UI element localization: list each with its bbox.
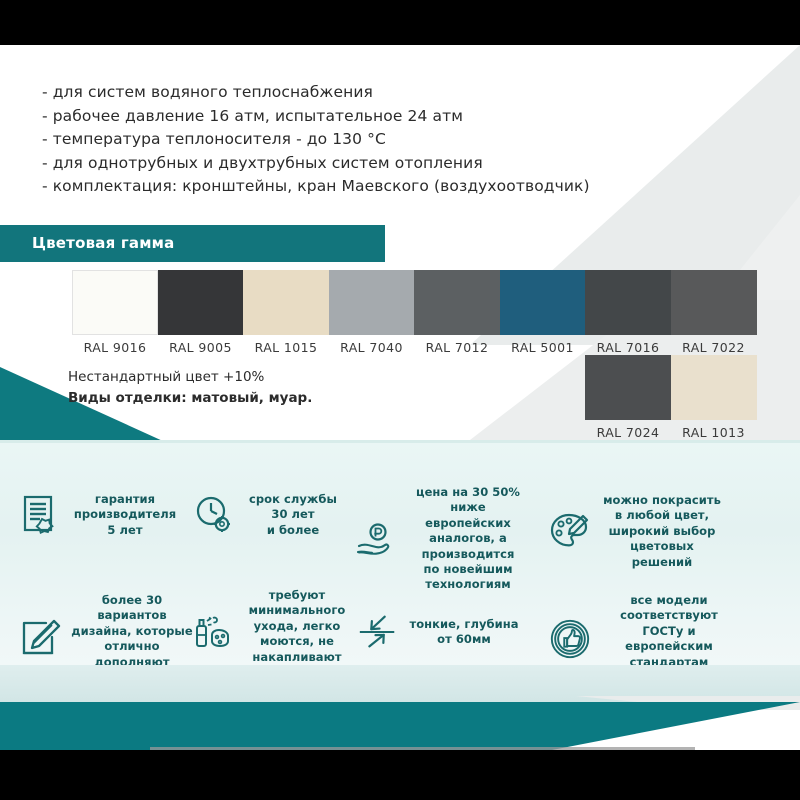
swatch-label: RAL 7012 — [414, 340, 500, 355]
feature-text-line: цветовых решений — [601, 539, 723, 570]
feature-text-line: накапливают — [245, 650, 349, 665]
feature-text-line: ниже европейских — [409, 500, 527, 531]
slide-canvas: - для систем водяного теплоснабжения - р… — [0, 45, 800, 750]
certificate-icon — [18, 493, 62, 537]
feature-item: цена на 30 50%ниже европейскиханалогов, … — [356, 485, 527, 593]
palette-notes: Нестандартный цвет +10% Виды отделки: ма… — [68, 367, 312, 409]
feature-text: цена на 30 50%ниже европейскиханалогов, … — [409, 485, 527, 593]
palette-header-label: Цветовая гамма — [32, 234, 174, 252]
feature-text-line: вариантов — [71, 608, 193, 623]
color-swatch[interactable]: RAL 7040 — [329, 270, 415, 355]
swatch-chip — [671, 355, 757, 420]
feature-text-line: аналогов, а — [409, 531, 527, 546]
note-custom-color: Нестандартный цвет +10% — [68, 367, 312, 388]
spray-sponge-icon — [192, 612, 236, 656]
color-swatch[interactable]: RAL 7024 — [585, 355, 671, 440]
feature-text: тонкие, глубинаот 60мм — [409, 617, 519, 648]
palette-brush-icon — [548, 510, 592, 554]
color-swatch[interactable]: RAL 7012 — [414, 270, 500, 355]
swatch-label: RAL 5001 — [500, 340, 586, 355]
spec-item: - рабочее давление 16 атм, испытательное… — [42, 105, 622, 129]
swatch-label: RAL 7022 — [671, 340, 757, 355]
feature-text-line: и более — [245, 523, 341, 538]
swatch-chip — [243, 270, 329, 335]
feature-text-line: можно покрасить — [601, 493, 723, 508]
swatch-label: RAL 1013 — [671, 425, 757, 440]
clock-gear-icon — [192, 493, 236, 537]
feature-text-line: в любой цвет, — [601, 508, 723, 523]
feature-text: гарантияпроизводителя5 лет — [71, 492, 179, 538]
color-swatch[interactable]: RAL 5001 — [500, 270, 586, 355]
feature-text-line: ухода, легко — [245, 619, 349, 634]
note-finish-types: Виды отделки: матовый, муар. — [68, 388, 312, 409]
feature-text-line: моются, не — [245, 634, 349, 649]
color-swatch[interactable]: RAL 7016 — [585, 270, 671, 355]
swatch-label: RAL 9016 — [72, 340, 158, 355]
feature-text: срок службы30 лети более — [245, 492, 341, 538]
spec-item: - комплектация: кронштейны, кран Маевско… — [42, 175, 622, 199]
feature-text-line: 30 лет — [245, 507, 341, 522]
feature-text-line: производится — [409, 547, 527, 562]
pencil-note-icon — [18, 617, 62, 661]
feature-text-line: цена на 30 50% — [409, 485, 527, 500]
spec-list: - для систем водяного теплоснабжения - р… — [42, 81, 622, 199]
swatch-chip — [585, 355, 671, 420]
feature-text-line: соответствуют — [601, 608, 737, 623]
depth-arrows-icon — [356, 610, 400, 654]
feature-text-line: требуют — [245, 588, 349, 603]
color-swatch[interactable]: RAL 9005 — [158, 270, 244, 355]
spec-item: - температура теплоносителя - до 130 °C — [42, 128, 622, 152]
feature-text-line: производителя — [71, 507, 179, 522]
feature-text-line: по новейшим — [409, 562, 527, 577]
feature-text-line: срок службы — [245, 492, 341, 507]
palette-header-bar: Цветовая гамма — [0, 225, 385, 262]
swatch-label: RAL 1015 — [243, 340, 329, 355]
swatch-chip — [500, 270, 586, 335]
feature-item: срок службы30 лети более — [192, 492, 341, 538]
color-swatch[interactable]: RAL 1015 — [243, 270, 329, 355]
feature-text-line: технологиям — [409, 577, 527, 592]
feature-text-line: гарантия — [71, 492, 179, 507]
color-swatch[interactable]: RAL 7022 — [671, 270, 757, 355]
hand-ruble-icon — [356, 517, 400, 561]
feature-item: гарантияпроизводителя5 лет — [18, 492, 179, 538]
feature-item: можно покраситьв любой цвет,широкий выбо… — [548, 493, 723, 570]
feature-text-line: тонкие, глубина — [409, 617, 519, 632]
feature-text-line: минимального — [245, 603, 349, 618]
color-swatch[interactable]: RAL 1013 — [671, 355, 757, 440]
slide-page: - для систем водяного теплоснабжения - р… — [0, 0, 800, 800]
feature-text-line: широкий выбор — [601, 524, 723, 539]
feature-text-line: от 60мм — [409, 632, 519, 647]
swatch-label: RAL 7024 — [585, 425, 671, 440]
feature-text: можно покраситьв любой цвет,широкий выбо… — [601, 493, 723, 570]
spec-item: - для систем водяного теплоснабжения — [42, 81, 622, 105]
feature-text-line: дизайна, которые — [71, 624, 193, 639]
spec-item: - для однотрубных и двухтрубных систем о… — [42, 152, 622, 176]
swatch-label: RAL 9005 — [158, 340, 244, 355]
decorative-band-teal — [0, 702, 800, 750]
swatch-chip — [329, 270, 415, 335]
features-band-edge — [0, 440, 800, 443]
swatch-chip — [158, 270, 244, 335]
feature-text-line: ГОСТу и европейским — [601, 624, 737, 655]
feature-item: тонкие, глубинаот 60мм — [356, 610, 519, 654]
feature-text-line: более 30 — [71, 593, 193, 608]
quality-thumbsup-icon — [548, 617, 592, 661]
swatch-chip — [72, 270, 158, 335]
color-swatch[interactable]: RAL 9016 — [72, 270, 158, 355]
swatch-chip — [414, 270, 500, 335]
feature-text-line: все модели — [601, 593, 737, 608]
feature-text-line: 5 лет — [71, 523, 179, 538]
swatch-label: RAL 7040 — [329, 340, 415, 355]
swatch-label: RAL 7016 — [585, 340, 671, 355]
letterbox-top — [0, 0, 800, 45]
letterbox-bottom — [0, 750, 800, 800]
swatch-chip — [585, 270, 671, 335]
swatch-chip — [671, 270, 757, 335]
